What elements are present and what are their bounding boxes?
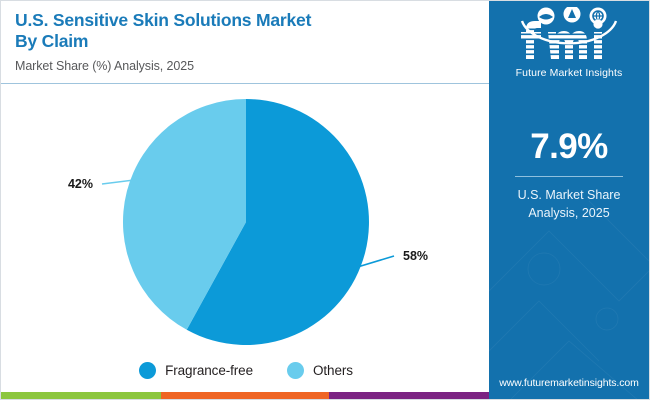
chart-infographic: U.S. Sensitive Skin Solutions Market By … [0, 0, 650, 400]
brand-logo: Future Market Insights [489, 7, 649, 79]
stat-block: 7.9% U.S. Market Share Analysis, 2025 [489, 129, 649, 222]
pie-label-fragrance-free: 58% [403, 249, 428, 263]
brand-tagline: Future Market Insights [489, 67, 649, 79]
stripe-segment-green [1, 392, 161, 400]
brand-panel: Future Market Insights 7.9% U.S. Market … [489, 1, 649, 400]
chart-legend: Fragrance-free Others [1, 353, 491, 387]
logo-i-dot [593, 19, 602, 28]
legend-label: Others [313, 363, 353, 378]
stat-divider [515, 176, 623, 177]
legend-dot-icon [139, 362, 156, 379]
legend-label: Fragrance-free [165, 363, 253, 378]
chart-subtitle: Market Share (%) Analysis, 2025 [15, 59, 491, 73]
stat-caption: U.S. Market Share Analysis, 2025 [489, 186, 649, 222]
fmi-logo-icon [508, 7, 630, 65]
chart-header: U.S. Sensitive Skin Solutions Market By … [1, 1, 491, 84]
stripe-segment-purple [329, 392, 491, 400]
brand-url[interactable]: www.futuremarketinsights.com [489, 377, 649, 389]
pie-chart: 42% 58% [1, 84, 491, 350]
stat-value: 7.9% [489, 129, 649, 164]
pie-chart-svg: 42% 58% [1, 84, 491, 350]
pie-label-others: 42% [68, 177, 93, 191]
chart-panel: U.S. Sensitive Skin Solutions Market By … [1, 1, 491, 400]
legend-dot-icon [287, 362, 304, 379]
legend-item-others[interactable]: Others [287, 362, 353, 379]
bottom-color-stripe [1, 392, 491, 400]
page-title: U.S. Sensitive Skin Solutions Market By … [15, 10, 491, 53]
legend-item-fragrance-free[interactable]: Fragrance-free [139, 362, 253, 379]
stripe-segment-orange [161, 392, 329, 400]
